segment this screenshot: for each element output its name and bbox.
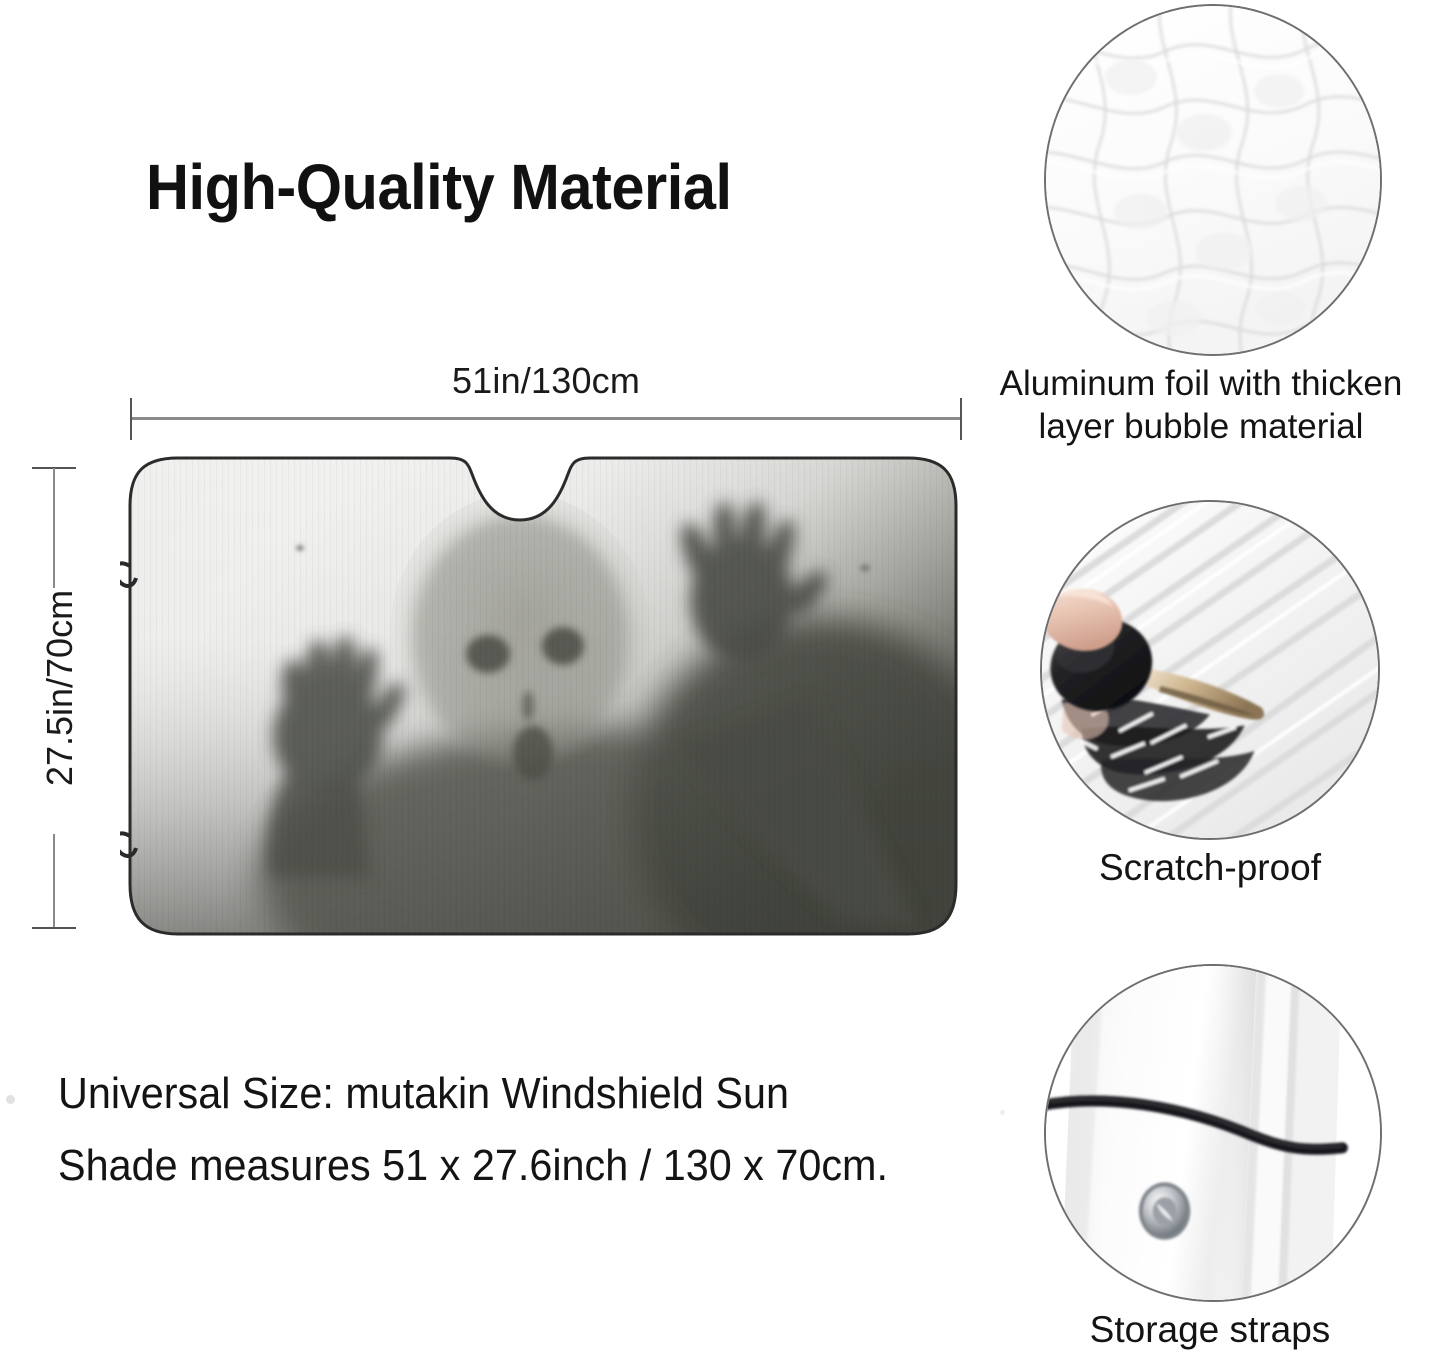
width-dimension: 51in/130cm bbox=[130, 360, 962, 422]
height-dimension-label: 27.5in/70cm bbox=[39, 528, 81, 848]
product-sunshade-image bbox=[120, 448, 966, 950]
width-dimension-label: 51in/130cm bbox=[130, 360, 962, 402]
description-line-1: Universal Size: mutakin Windshield Sun bbox=[58, 1058, 979, 1130]
height-dimension-line-lower bbox=[53, 834, 55, 929]
caption-storage-straps: Storage straps bbox=[1040, 1308, 1380, 1351]
width-dimension-cap-left bbox=[130, 398, 132, 440]
page-title: High-Quality Material bbox=[146, 152, 732, 222]
scan-artifact bbox=[1000, 1110, 1005, 1115]
width-dimension-line bbox=[130, 417, 962, 420]
height-dimension: 27.5in/70cm bbox=[30, 462, 90, 934]
caption-aluminum-foil-line1: Aluminum foil with thicken bbox=[960, 362, 1441, 405]
height-dimension-cap-bottom bbox=[32, 927, 76, 929]
universal-size-description: Universal Size: mutakin Windshield Sun S… bbox=[58, 1058, 979, 1202]
feature-image-storage-straps bbox=[1044, 964, 1382, 1302]
caption-aluminum-foil-line2: layer bubble material bbox=[960, 405, 1441, 448]
description-line-2: Shade measures 51 x 27.6inch / 130 x 70c… bbox=[58, 1130, 979, 1202]
product-infographic: High-Quality Material 51in/130cm 27.5in/… bbox=[0, 0, 1441, 1358]
feature-image-scratch-proof bbox=[1040, 500, 1380, 840]
scan-artifact bbox=[6, 1095, 15, 1104]
feature-image-aluminum-foil bbox=[1044, 4, 1382, 356]
caption-aluminum-foil: Aluminum foil with thicken layer bubble … bbox=[960, 362, 1441, 448]
caption-scratch-proof: Scratch-proof bbox=[1040, 846, 1380, 889]
